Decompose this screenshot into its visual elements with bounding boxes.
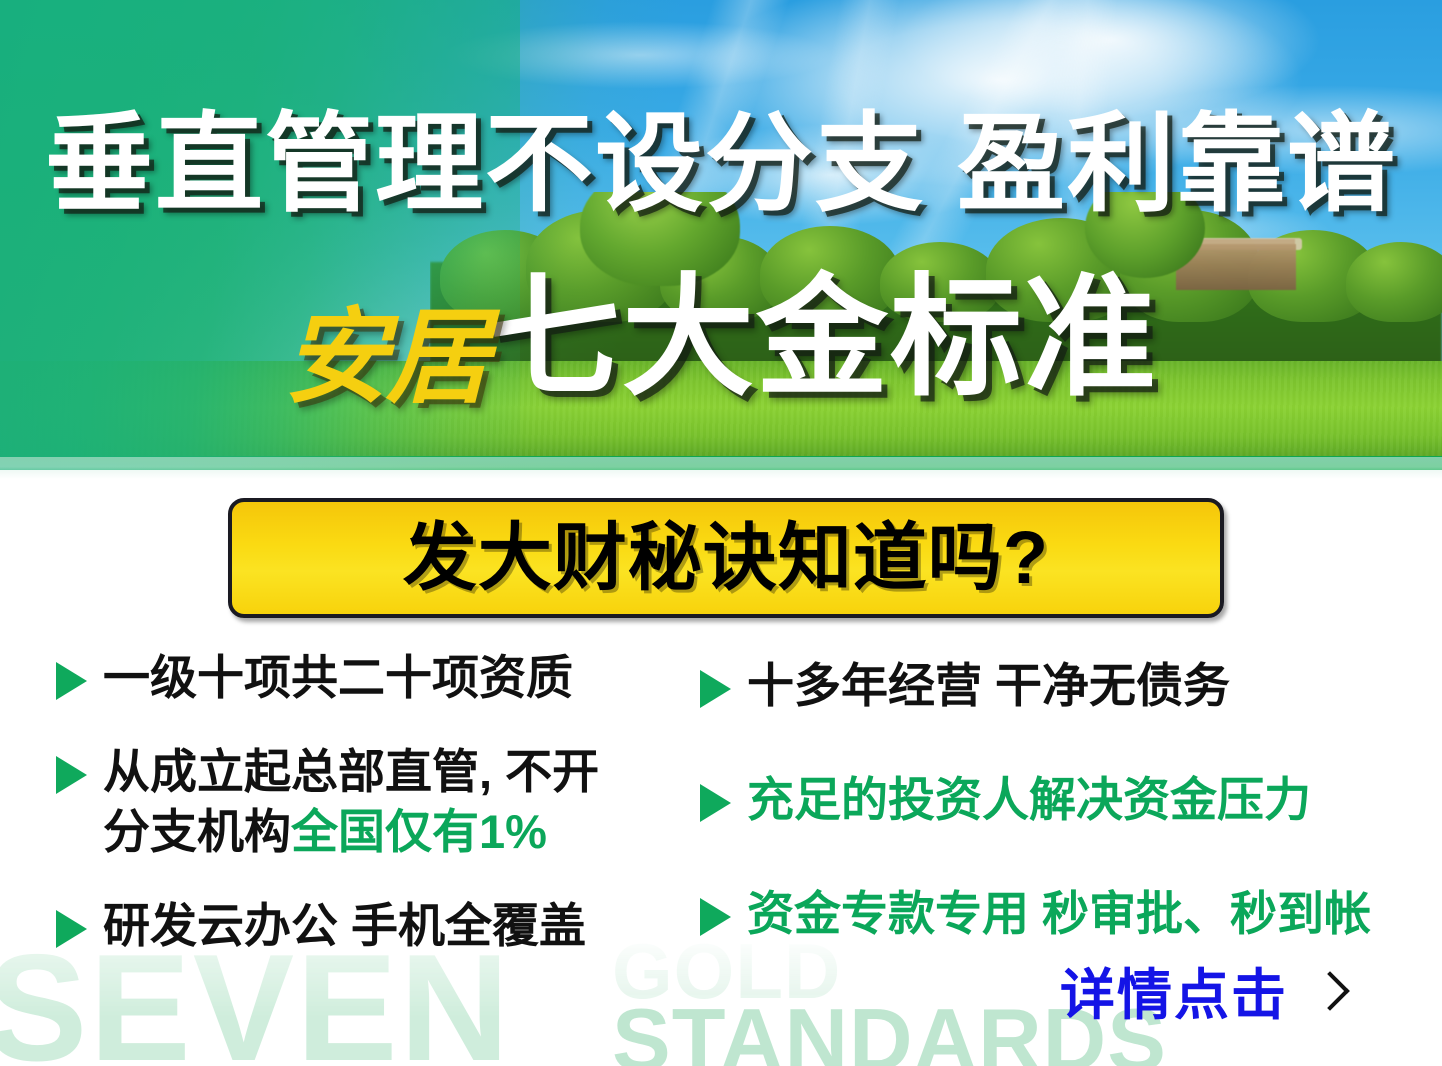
list-item: 十多年经营 干净无债务 — [700, 656, 1400, 716]
triangle-bullet-icon — [56, 662, 87, 700]
chevron-right-icon — [1314, 973, 1340, 1019]
feature-columns: 一级十项共二十项资质 从成立起总部直管, 不开 分支机构全国仅有1% 研发云办公… — [0, 648, 1442, 978]
feature-text: 研发云办公 手机全覆盖 — [103, 896, 586, 956]
hero-banner: 垂直管理不设分支 盈利靠谱 安居七大金标准 — [0, 0, 1442, 470]
hero-fade-strip — [0, 457, 1442, 479]
feature-text-line1: 从成立起总部直管, 不开 — [103, 742, 599, 802]
triangle-bullet-icon — [700, 670, 731, 708]
list-item: 充足的投资人解决资金压力 — [700, 770, 1400, 830]
hero-subtitle: 安居七大金标准 — [0, 272, 1442, 404]
details-cta-button[interactable]: 详情点击 — [1060, 968, 1340, 1023]
feature-column-right: 十多年经营 干净无债务 充足的投资人解决资金压力 资金专款专用 秒审批、秒到帐 — [700, 656, 1400, 998]
feature-text: 充足的投资人解决资金压力 — [747, 770, 1311, 830]
highlight-banner[interactable]: 发大财秘诀知道吗? — [228, 498, 1224, 618]
feature-text: 从成立起总部直管, 不开 分支机构全国仅有1% — [103, 742, 599, 862]
feature-text: 资金专款专用 秒审批、秒到帐 — [747, 884, 1371, 944]
triangle-bullet-icon — [56, 910, 87, 948]
list-item: 从成立起总部直管, 不开 分支机构全国仅有1% — [56, 742, 696, 862]
feature-text-plain: 分支机构 — [103, 805, 291, 858]
triangle-bullet-icon — [700, 784, 731, 822]
list-item: 一级十项共二十项资质 — [56, 648, 696, 708]
list-item: 资金专款专用 秒审批、秒到帐 — [700, 884, 1400, 944]
feature-text-line2: 分支机构全国仅有1% — [103, 802, 599, 862]
feature-column-left: 一级十项共二十项资质 从成立起总部直管, 不开 分支机构全国仅有1% 研发云办公… — [56, 648, 696, 991]
details-cta-label: 详情点击 — [1060, 968, 1288, 1023]
feature-text-highlight: 全国仅有1% — [291, 805, 547, 858]
promo-poster: 垂直管理不设分支 盈利靠谱 安居七大金标准 发大财秘诀知道吗? SEVEN GO… — [0, 0, 1442, 1066]
triangle-bullet-icon — [700, 898, 731, 936]
hero-subtitle-brand: 安居 — [284, 306, 488, 410]
hero-headline: 垂直管理不设分支 盈利靠谱 — [0, 110, 1442, 218]
feature-text: 一级十项共二十项资质 — [103, 648, 573, 708]
feature-text: 十多年经营 干净无债务 — [747, 656, 1230, 716]
list-item: 研发云办公 手机全覆盖 — [56, 896, 696, 956]
triangle-bullet-icon — [56, 756, 87, 794]
hero-subtitle-main: 七大金标准 — [488, 272, 1158, 404]
highlight-banner-text: 发大财秘诀知道吗? — [403, 521, 1049, 595]
